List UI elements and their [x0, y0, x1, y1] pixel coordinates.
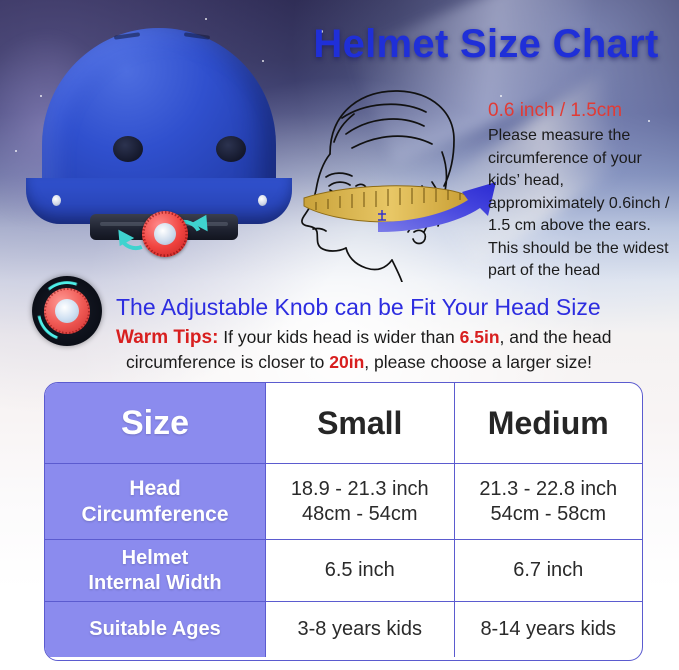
warm-tips-text-b: , and the head: [500, 327, 612, 347]
row-label-helmet-internal-width: Helmet Internal Width: [45, 540, 266, 601]
cell-circumference-small: 18.9 - 21.3 inch 48cm - 54cm: [266, 464, 455, 539]
helmet-size-chart-page: Helmet Size Chart: [0, 0, 679, 670]
star: [15, 150, 17, 152]
knob-headline: The Adjustable Knob can be Fit Your Head…: [116, 293, 676, 321]
head-measurement-diagram: [282, 82, 502, 282]
warm-tips-text-a: If your kids head is wider than: [218, 327, 459, 347]
helmet-illustration: [18, 28, 300, 258]
row-label-line1: Helmet: [88, 546, 221, 571]
adjustable-knob-inset: [32, 276, 102, 346]
warm-tips-value-width: 6.5in: [460, 327, 500, 347]
star: [205, 18, 207, 20]
head-profile-drawing: [282, 82, 502, 282]
warm-tips-text-d: , please choose a larger size!: [364, 352, 592, 372]
cell-line2: 48cm - 54cm: [291, 502, 429, 527]
helmet-vent-hole: [113, 136, 143, 162]
row-label-suitable-ages: Suitable Ages: [45, 602, 266, 657]
adjustable-knob-teeth: [142, 211, 188, 257]
cell-line1: 18.9 - 21.3 inch: [291, 477, 429, 502]
warm-tips-label: Warm Tips:: [116, 327, 218, 348]
cell-width-small: 6.5 inch: [266, 540, 455, 601]
warm-tips: Warm Tips: If your kids head is wider th…: [116, 325, 672, 375]
table-header-row: Size Small Medium: [45, 383, 642, 463]
helmet-rivet: [52, 195, 61, 206]
cell-ages-medium: 8-14 years kids: [455, 602, 643, 657]
helmet-rivet: [258, 195, 267, 206]
measure-note: 0.6 inch / 1.5cm Please measure the circ…: [488, 98, 676, 283]
table-row: Suitable Ages 3-8 years kids 8-14 years …: [45, 601, 642, 657]
warm-tips-text-c: circumference is closer to: [126, 352, 329, 372]
page-title: Helmet Size Chart: [300, 22, 672, 67]
row-label-line1: Head: [81, 476, 228, 502]
table-row: Helmet Internal Width 6.5 inch 6.7 inch: [45, 539, 642, 601]
cell-line1: 21.3 - 22.8 inch: [479, 477, 617, 502]
row-label-head-circumference: Head Circumference: [45, 464, 266, 539]
table-row: Head Circumference 18.9 - 21.3 inch 48cm…: [45, 463, 642, 539]
cell-line2: 54cm - 58cm: [479, 502, 617, 527]
table-header-size: Size: [45, 383, 266, 463]
knob-dial-teeth: [44, 288, 90, 334]
cell-ages-small: 3-8 years kids: [266, 602, 455, 657]
measure-note-headline: 0.6 inch / 1.5cm: [488, 98, 676, 124]
cell-circumference-medium: 21.3 - 22.8 inch 54cm - 58cm: [455, 464, 643, 539]
helmet-vent-hole: [216, 136, 246, 162]
measure-note-body: Please measure the circumference of your…: [488, 125, 676, 283]
table-header-medium: Medium: [455, 383, 643, 463]
cell-width-medium: 6.7 inch: [455, 540, 643, 601]
warm-tips-line2: circumference is closer to 20in, please …: [126, 350, 672, 375]
row-label-line2: Circumference: [81, 502, 228, 528]
size-table: Size Small Medium Head Circumference 18.…: [44, 382, 643, 661]
row-label-line2: Internal Width: [88, 571, 221, 596]
warm-tips-value-circumference: 20in: [329, 352, 364, 372]
table-header-small: Small: [266, 383, 455, 463]
